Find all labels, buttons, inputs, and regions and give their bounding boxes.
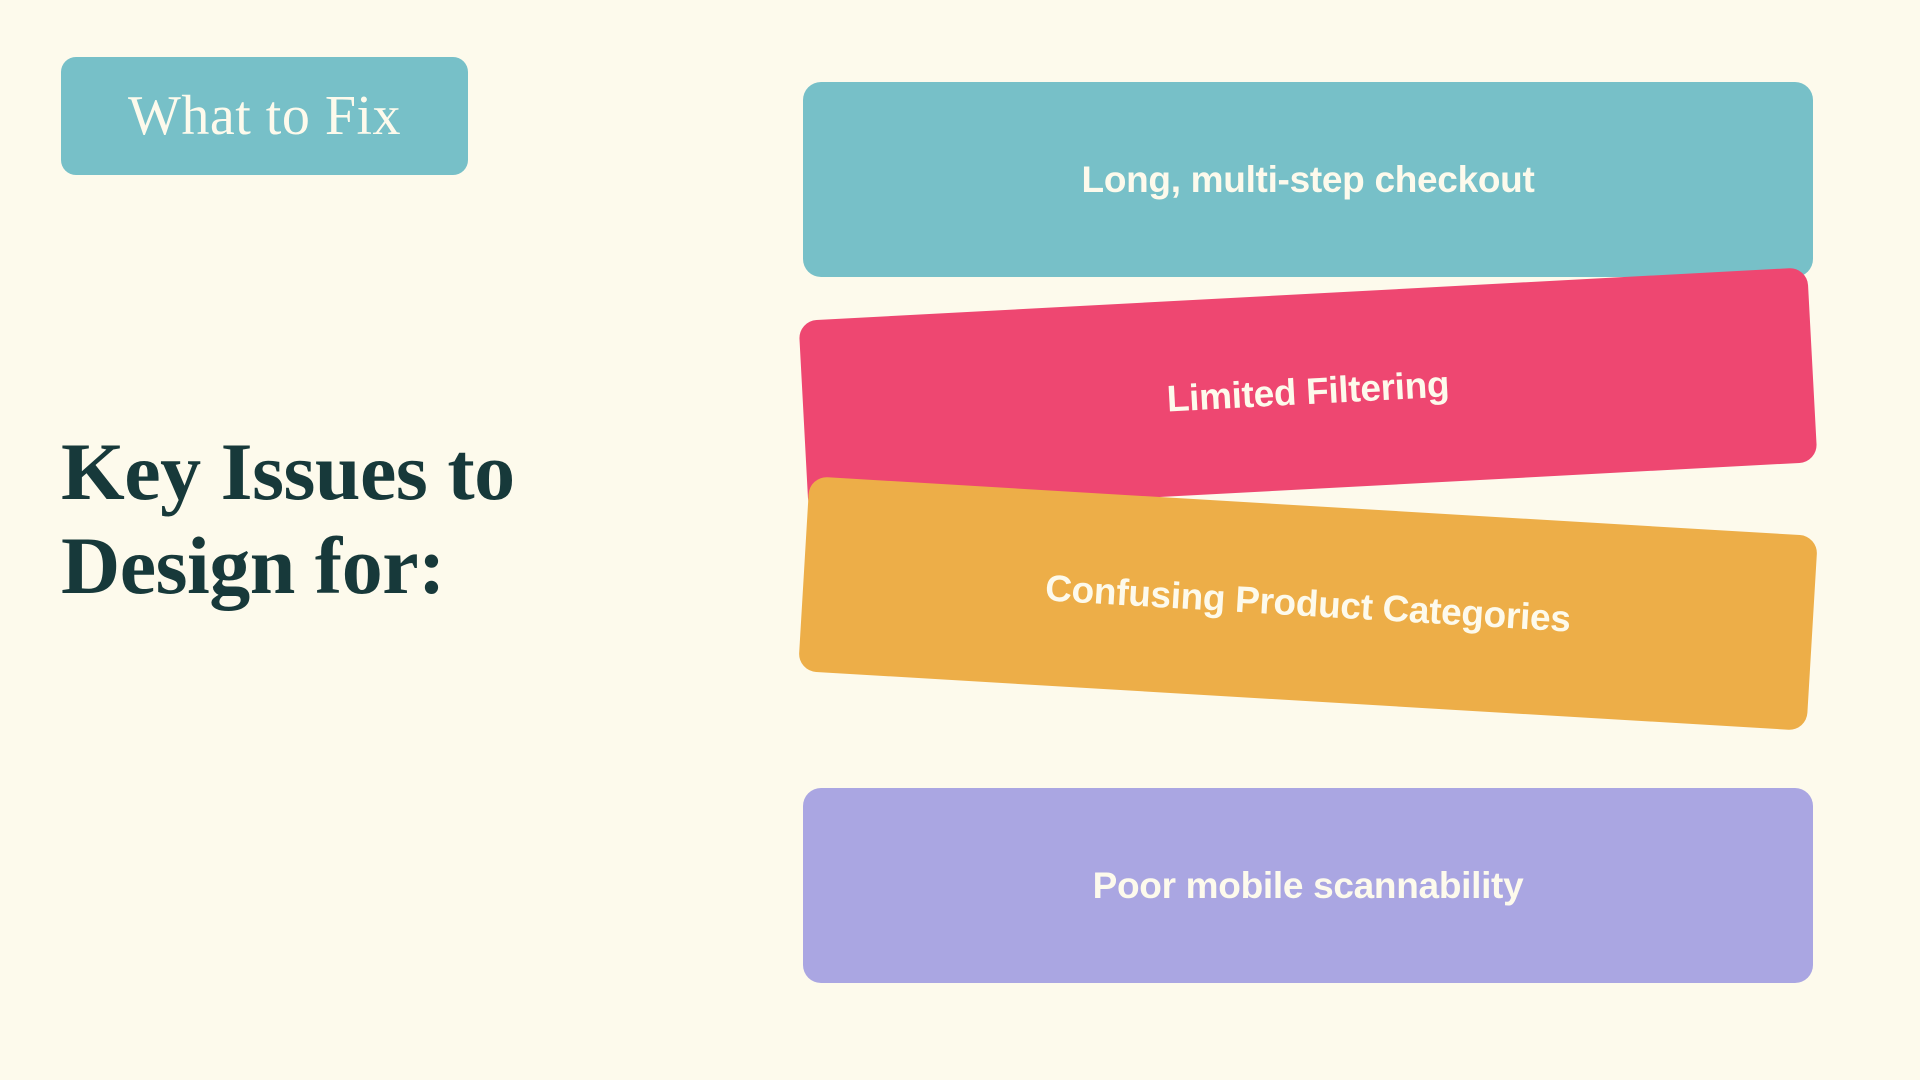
section-badge: What to Fix bbox=[61, 57, 468, 175]
page-title: Key Issues to Design for: bbox=[61, 425, 681, 614]
issue-bar-checkout: Long, multi-step checkout bbox=[803, 82, 1813, 277]
issue-bar-label: Limited Filtering bbox=[1166, 366, 1450, 418]
issue-bar-label: Confusing Product Categories bbox=[1044, 569, 1571, 637]
issue-bar-list: Long, multi-step checkout Limited Filter… bbox=[803, 82, 1813, 982]
page-title-line-2: Design for: bbox=[61, 519, 681, 613]
page-title-line-1: Key Issues to bbox=[61, 425, 681, 519]
issue-bar-label: Poor mobile scannability bbox=[1093, 867, 1524, 904]
issue-bar-scannability: Poor mobile scannability bbox=[803, 788, 1813, 983]
issue-bar-filtering: Limited Filtering bbox=[799, 267, 1818, 515]
issue-bar-label: Long, multi-step checkout bbox=[1082, 161, 1535, 198]
section-badge-label: What to Fix bbox=[128, 88, 401, 144]
slide-canvas: What to Fix Key Issues to Design for: Lo… bbox=[0, 0, 1920, 1080]
issue-bar-categories: Confusing Product Categories bbox=[798, 476, 1818, 731]
